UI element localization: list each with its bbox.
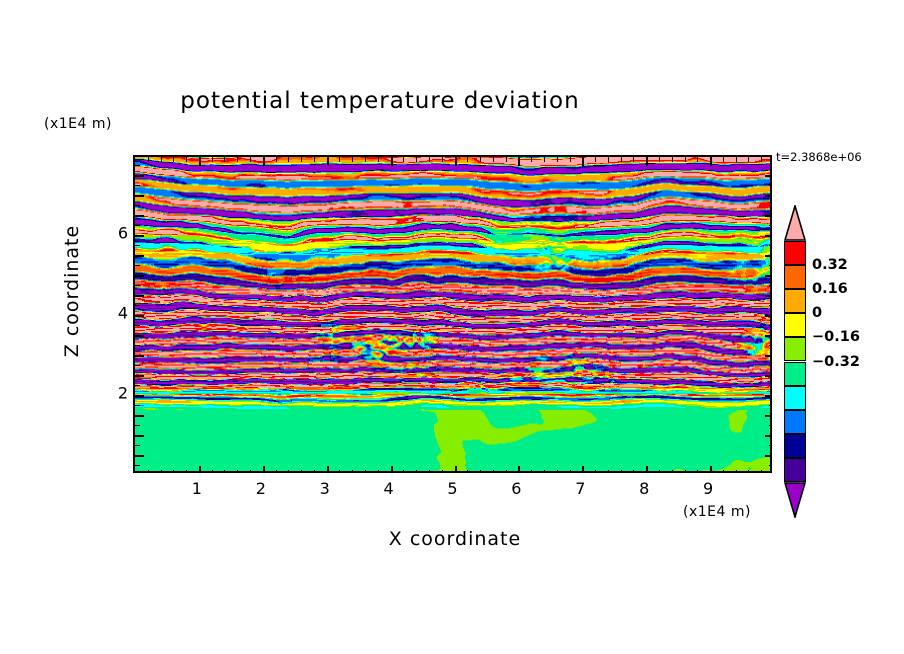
- axis-tick: [442, 470, 443, 473]
- axis-tick: [250, 470, 251, 473]
- y-tick-label: 6: [118, 224, 128, 243]
- axis-tick: [761, 470, 762, 473]
- axis-tick: [518, 157, 520, 166]
- axis-tick: [135, 425, 140, 426]
- axis-tick: [378, 470, 379, 473]
- axis-tick: [148, 470, 149, 473]
- axis-tick: [769, 305, 772, 306]
- axis-tick: [769, 365, 772, 366]
- axis-tick: [723, 157, 724, 162]
- axis-tick: [212, 470, 213, 473]
- colorbar-band: [784, 458, 806, 482]
- axis-tick: [276, 157, 277, 162]
- axis-tick: [455, 157, 457, 166]
- axis-tick: [748, 470, 749, 473]
- axis-tick: [672, 470, 673, 473]
- axis-tick: [736, 157, 737, 162]
- colorbar-band: [784, 313, 806, 337]
- axis-tick: [480, 470, 481, 473]
- axis-tick: [557, 470, 558, 473]
- axis-tick: [765, 395, 772, 397]
- colorbar-cap: [784, 482, 806, 518]
- axis-tick: [442, 157, 443, 162]
- y-tick-label: 4: [118, 304, 128, 323]
- x-tick-label: 9: [703, 479, 713, 498]
- axis-tick: [697, 470, 698, 473]
- axis-tick: [199, 157, 201, 166]
- colorbar-band: [784, 434, 806, 458]
- axis-tick: [765, 295, 772, 297]
- axis-tick: [327, 157, 329, 166]
- colorbar-band: [784, 362, 806, 386]
- axis-tick: [544, 470, 545, 473]
- axis-tick: [659, 157, 660, 162]
- axis-tick: [237, 470, 238, 473]
- y-axis-title: Z coordinate: [61, 191, 83, 391]
- axis-tick: [697, 157, 698, 162]
- axis-tick: [765, 455, 772, 457]
- axis-tick: [327, 466, 329, 473]
- axis-tick: [186, 470, 187, 473]
- axis-tick: [314, 470, 315, 473]
- axis-tick: [263, 157, 265, 166]
- y-axis-tick-labels: 246: [100, 155, 128, 473]
- axis-tick: [765, 175, 772, 177]
- axis-tick: [263, 466, 265, 473]
- x-tick-label: 6: [511, 479, 521, 498]
- axis-tick: [769, 425, 772, 426]
- axis-tick: [765, 415, 772, 417]
- axis-tick: [135, 325, 140, 326]
- axis-tick: [135, 205, 140, 206]
- axis-tick: [224, 470, 225, 473]
- axis-tick: [769, 225, 772, 226]
- x-tick-label: 7: [575, 479, 585, 498]
- axis-tick: [135, 385, 140, 386]
- x-tick-label: 8: [639, 479, 649, 498]
- axis-tick: [769, 465, 772, 466]
- axis-tick: [506, 157, 507, 162]
- axis-tick: [135, 185, 140, 186]
- axis-tick: [173, 470, 174, 473]
- axis-tick: [416, 157, 417, 162]
- contour-field: [135, 157, 770, 471]
- axis-tick: [237, 157, 238, 162]
- axis-tick: [391, 466, 393, 473]
- axis-tick: [135, 305, 140, 306]
- axis-tick: [135, 315, 144, 317]
- axis-tick: [765, 335, 772, 337]
- axis-tick: [765, 435, 772, 437]
- axis-tick: [135, 275, 144, 277]
- axis-tick: [135, 365, 140, 366]
- colorbar-band: [784, 241, 806, 265]
- axis-tick: [135, 255, 144, 257]
- axis-tick: [608, 470, 609, 473]
- axis-tick: [135, 285, 140, 286]
- axis-tick: [736, 470, 737, 473]
- x-tick-label: 5: [447, 479, 457, 498]
- colorbar-cap: [784, 205, 806, 241]
- axis-tick: [582, 157, 584, 166]
- axis-tick: [467, 157, 468, 162]
- axis-tick: [672, 157, 673, 162]
- axis-tick: [570, 470, 571, 473]
- axis-tick: [161, 157, 162, 162]
- axis-tick: [761, 157, 762, 162]
- contour-plot-area: [133, 155, 772, 473]
- axis-tick: [769, 245, 772, 246]
- axis-tick: [544, 157, 545, 162]
- axis-tick: [765, 235, 772, 237]
- colorbar-band: [784, 337, 806, 361]
- axis-tick: [646, 157, 648, 166]
- y-axis-units: (x1E4 m): [44, 116, 112, 132]
- axis-tick: [212, 157, 213, 162]
- axis-tick: [633, 157, 634, 162]
- axis-tick: [135, 335, 144, 337]
- x-axis-title: X coordinate: [255, 528, 655, 550]
- axis-tick: [531, 157, 532, 162]
- x-axis-units: (x1E4 m): [683, 504, 751, 520]
- colorbar-tick-labels: 0.320.160−0.16−0.32: [812, 205, 892, 518]
- axis-tick: [723, 470, 724, 473]
- colorbar-tick-label: −0.32: [812, 354, 860, 370]
- axis-tick: [403, 470, 404, 473]
- axis-tick: [769, 345, 772, 346]
- axis-tick: [250, 157, 251, 162]
- axis-tick: [765, 195, 772, 197]
- x-tick-label: 3: [320, 479, 330, 498]
- axis-tick: [769, 185, 772, 186]
- axis-tick: [135, 375, 144, 377]
- axis-tick: [769, 445, 772, 446]
- axis-tick: [765, 215, 772, 217]
- axis-tick: [685, 470, 686, 473]
- y-tick-label: 2: [118, 384, 128, 403]
- timestamp-annotation: t=2.3868e+06: [776, 150, 862, 164]
- axis-tick: [352, 157, 353, 162]
- colorbar-band: [784, 386, 806, 410]
- axis-tick: [416, 470, 417, 473]
- axis-tick: [748, 157, 749, 162]
- colorbar-tick-label: 0.16: [812, 281, 848, 297]
- axis-tick: [765, 255, 772, 257]
- axis-tick: [608, 157, 609, 162]
- axis-tick: [621, 157, 622, 162]
- axis-tick: [135, 345, 140, 346]
- axis-tick: [646, 466, 648, 473]
- x-tick-label: 2: [256, 479, 266, 498]
- axis-tick: [633, 470, 634, 473]
- axis-tick: [135, 165, 140, 166]
- axis-tick: [769, 385, 772, 386]
- axis-tick: [769, 205, 772, 206]
- colorbar-tick-label: 0.32: [812, 257, 848, 273]
- axis-tick: [685, 157, 686, 162]
- axis-tick: [710, 157, 712, 166]
- axis-tick: [276, 470, 277, 473]
- axis-tick: [135, 295, 144, 297]
- axis-tick: [493, 157, 494, 162]
- chart-title: potential temperature deviation: [0, 88, 760, 114]
- axis-tick: [135, 465, 140, 466]
- axis-tick: [467, 470, 468, 473]
- axis-tick: [314, 157, 315, 162]
- axis-tick: [199, 466, 201, 473]
- colorbar-band: [784, 410, 806, 434]
- colorbar: [784, 205, 806, 518]
- axis-tick: [301, 470, 302, 473]
- axis-tick: [135, 435, 144, 437]
- axis-tick: [518, 466, 520, 473]
- axis-tick: [769, 325, 772, 326]
- axis-tick: [135, 415, 144, 417]
- axis-tick: [769, 285, 772, 286]
- axis-tick: [710, 466, 712, 473]
- axis-tick: [135, 175, 144, 177]
- axis-tick: [301, 157, 302, 162]
- colorbar-tick-label: −0.16: [812, 329, 860, 345]
- x-tick-label: 1: [192, 479, 202, 498]
- axis-tick: [480, 157, 481, 162]
- axis-tick: [339, 470, 340, 473]
- axis-tick: [135, 265, 140, 266]
- axis-tick: [224, 157, 225, 162]
- axis-tick: [135, 215, 144, 217]
- axis-tick: [135, 355, 144, 357]
- axis-tick: [365, 470, 366, 473]
- axis-tick: [365, 157, 366, 162]
- axis-tick: [135, 235, 144, 237]
- axis-tick: [557, 157, 558, 162]
- x-tick-label: 4: [384, 479, 394, 498]
- axis-tick: [769, 405, 772, 406]
- axis-tick: [135, 445, 140, 446]
- contour-canvas: [135, 157, 770, 471]
- axis-tick: [765, 355, 772, 357]
- axis-tick: [378, 157, 379, 162]
- axis-tick: [769, 165, 772, 166]
- axis-tick: [352, 470, 353, 473]
- axis-tick: [135, 395, 144, 397]
- axis-tick: [135, 245, 140, 246]
- axis-tick: [135, 405, 140, 406]
- axis-tick: [288, 470, 289, 473]
- axis-tick: [429, 157, 430, 162]
- axis-tick: [161, 470, 162, 473]
- colorbar-band: [784, 289, 806, 313]
- axis-tick: [595, 157, 596, 162]
- colorbar-tick-label: 0: [812, 305, 822, 321]
- axis-tick: [506, 470, 507, 473]
- axis-tick: [595, 470, 596, 473]
- axis-tick: [135, 225, 140, 226]
- x-axis-tick-labels: 123456789: [133, 479, 772, 501]
- axis-tick: [403, 157, 404, 162]
- axis-tick: [621, 470, 622, 473]
- axis-tick: [531, 470, 532, 473]
- axis-tick: [135, 195, 144, 197]
- axis-tick: [429, 470, 430, 473]
- axis-tick: [493, 470, 494, 473]
- axis-tick: [455, 466, 457, 473]
- axis-tick: [339, 157, 340, 162]
- colorbar-band: [784, 265, 806, 289]
- axis-tick: [135, 455, 144, 457]
- axis-tick: [659, 470, 660, 473]
- axis-tick: [391, 157, 393, 166]
- axis-tick: [186, 157, 187, 162]
- axis-tick: [570, 157, 571, 162]
- axis-tick: [769, 265, 772, 266]
- axis-tick: [288, 157, 289, 162]
- axis-tick: [582, 466, 584, 473]
- axis-tick: [173, 157, 174, 162]
- axis-tick: [765, 315, 772, 317]
- axis-tick: [765, 275, 772, 277]
- axis-tick: [148, 157, 149, 162]
- axis-tick: [765, 375, 772, 377]
